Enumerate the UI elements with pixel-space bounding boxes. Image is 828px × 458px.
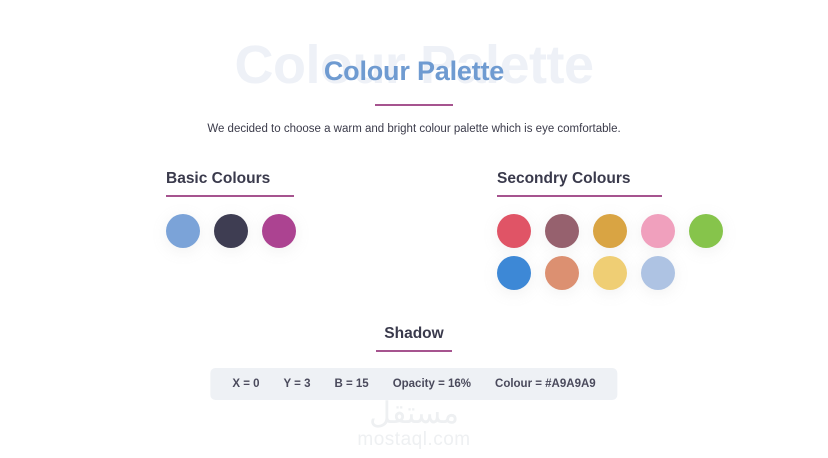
title-block: Colour Palette Colour Palette bbox=[0, 34, 828, 112]
section-title-basic: Basic Colours bbox=[166, 170, 294, 188]
swatch-magenta[interactable] bbox=[262, 214, 296, 248]
section-underline-shadow bbox=[376, 350, 452, 352]
section-underline-basic bbox=[166, 195, 294, 197]
swatch-blue[interactable] bbox=[497, 256, 531, 290]
swatch-salmon[interactable] bbox=[545, 256, 579, 290]
section-underline-secondary bbox=[497, 195, 662, 197]
colour-palette-slide: Colour Palette Colour Palette We decided… bbox=[0, 0, 828, 458]
shadow-spec-blur: B = 15 bbox=[334, 378, 368, 390]
section-basic-colours: Basic Colours bbox=[166, 170, 294, 197]
swatch-green[interactable] bbox=[689, 214, 723, 248]
watermark-latin-text: mostaql.com bbox=[0, 430, 828, 451]
section-shadow: Shadow bbox=[0, 325, 828, 352]
swatch-row-secondary-2 bbox=[497, 256, 675, 290]
section-secondary-colours: Secondry Colours bbox=[497, 170, 662, 197]
swatch-row-basic bbox=[166, 214, 296, 248]
shadow-spec-y: Y = 3 bbox=[284, 378, 311, 390]
shadow-spec-x: X = 0 bbox=[232, 378, 259, 390]
swatch-light-yellow[interactable] bbox=[593, 256, 627, 290]
watermark-arabic-text: مستقل bbox=[0, 398, 828, 430]
section-title-secondary: Secondry Colours bbox=[497, 170, 662, 188]
swatch-mauve-brown[interactable] bbox=[545, 214, 579, 248]
shadow-spec-pill: X = 0 Y = 3 B = 15 Opacity = 16% Colour … bbox=[210, 368, 617, 400]
shadow-spec-opacity: Opacity = 16% bbox=[393, 378, 471, 390]
title-underline-rule bbox=[375, 104, 453, 106]
swatch-amber[interactable] bbox=[593, 214, 627, 248]
swatch-pink[interactable] bbox=[641, 214, 675, 248]
page-title: Colour Palette bbox=[0, 56, 828, 87]
swatch-light-blue[interactable] bbox=[166, 214, 200, 248]
swatch-pale-blue[interactable] bbox=[641, 256, 675, 290]
watermark: مستقل mostaql.com bbox=[0, 398, 828, 450]
page-subtitle: We decided to choose a warm and bright c… bbox=[0, 123, 828, 135]
shadow-spec-colour: Colour = #A9A9A9 bbox=[495, 378, 596, 390]
section-title-shadow: Shadow bbox=[0, 325, 828, 343]
swatch-row-secondary-1 bbox=[497, 214, 723, 248]
swatch-red[interactable] bbox=[497, 214, 531, 248]
swatch-dark-navy[interactable] bbox=[214, 214, 248, 248]
